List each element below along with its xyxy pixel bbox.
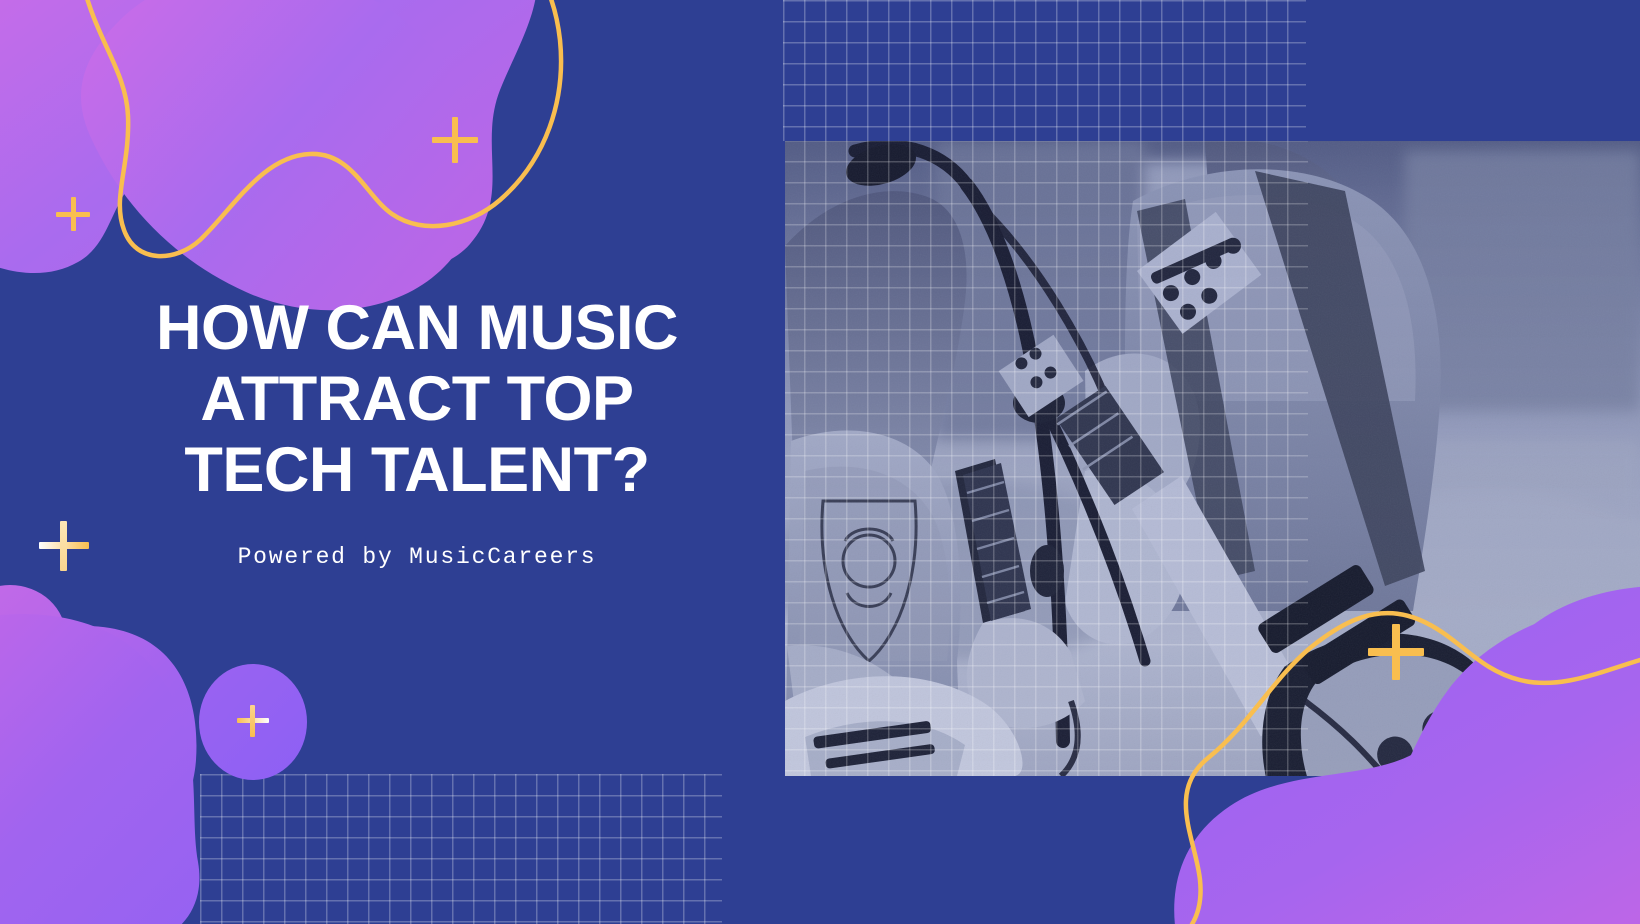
headline-line-3: TECH TALENT?: [184, 435, 649, 505]
title-block: HOW CAN MUSIC ATTRACT TOP TECH TALENT? P…: [137, 293, 697, 570]
headline-line-2: ATTRACT TOP: [200, 364, 633, 434]
plus-vertical-bar: [71, 197, 76, 231]
subtitle: Powered by MusicCareers: [137, 506, 697, 570]
plus-mark-4: [237, 705, 269, 737]
page-title: HOW CAN MUSIC ATTRACT TOP TECH TALENT?: [137, 293, 697, 506]
headline-line-1: HOW CAN MUSIC: [156, 293, 678, 363]
plus-mark-1: [432, 117, 478, 163]
plus-mark-5: [1368, 624, 1424, 680]
plus-mark-3: [39, 521, 89, 571]
plus-vertical-bar: [452, 117, 458, 163]
plus-vertical-bar: [60, 521, 67, 571]
plus-mark-2: [56, 197, 90, 231]
slide-canvas: HOW CAN MUSIC ATTRACT TOP TECH TALENT? P…: [0, 0, 1640, 924]
plus-vertical-bar: [1392, 624, 1400, 680]
yellow-wavy-line-top-left: [82, 0, 561, 256]
plus-vertical-bar: [250, 705, 255, 737]
